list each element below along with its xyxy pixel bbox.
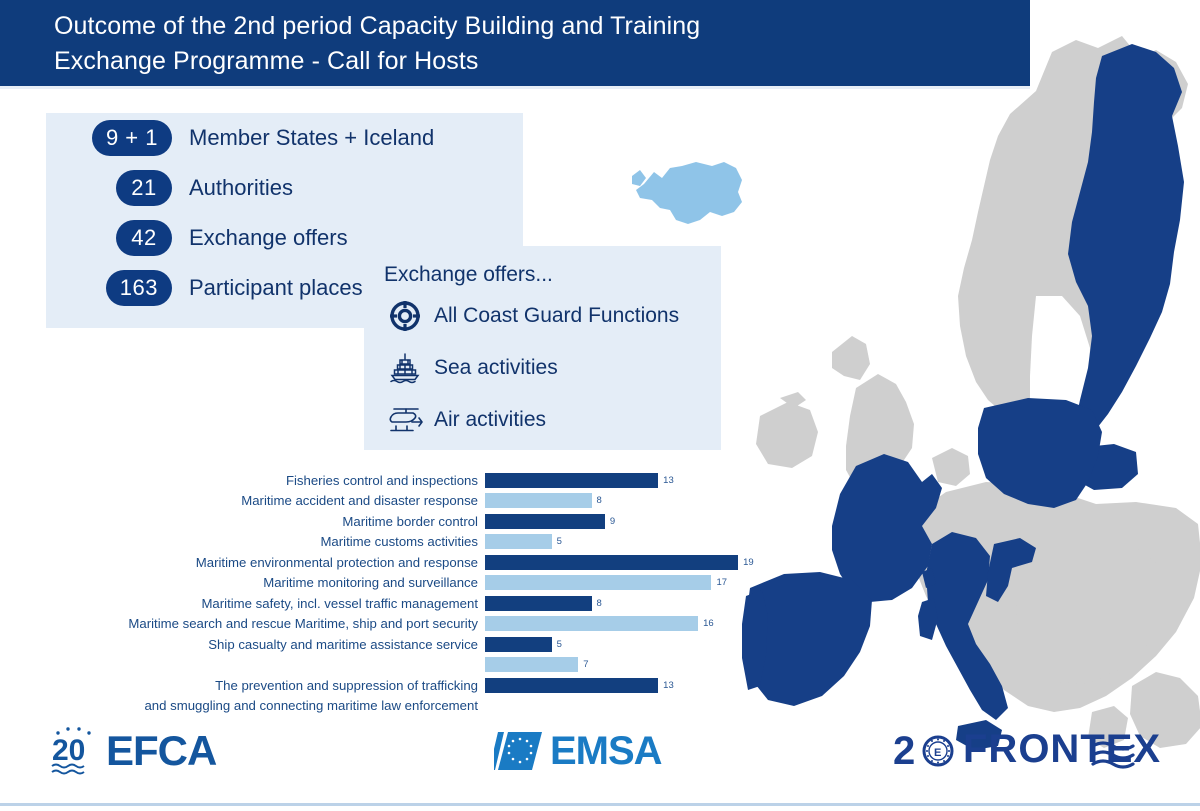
exchange-offers-bar-chart: Fisheries control and inspections 13 Mar… [0,470,790,710]
bar-value: 5 [557,536,562,547]
offer-label: Air activities [434,408,546,432]
stat-label: Authorities [189,175,293,201]
chart-row: 7 [0,655,790,676]
svg-text:E: E [934,747,941,759]
bar-category-label: Ship casualty and maritime assistance se… [0,637,485,652]
stat-label: Participant places [189,275,363,301]
offer-label: All Coast Guard Functions [434,304,679,328]
bar-value: 8 [597,598,602,609]
bar-value: 8 [597,495,602,506]
bar [485,534,552,549]
chart-row: The prevention and suppression of traffi… [0,675,790,696]
bar-category-label: Maritime customs activities [0,534,485,549]
bar-track: 9 [485,511,790,532]
bar-value: 16 [703,618,714,629]
emsa-logo: EMSA [494,728,662,774]
frontex-logo: 2 E FRONTEX [893,724,1161,774]
bar-value: 5 [557,639,562,650]
helicopter-icon [382,401,428,439]
bar [485,596,592,611]
chart-row: Ship casualty and maritime assistance se… [0,634,790,655]
stat-row: 21 Authorities [66,163,523,213]
eu-flag-icon [494,728,546,774]
bar [485,637,552,652]
chart-row: Maritime monitoring and surveillance 17 [0,573,790,594]
bar-track: 19 [485,552,790,573]
offer-row-coast-guard: All Coast Guard Functions [382,292,721,339]
bar-track: 7 [485,655,790,676]
bar-category-label: Fisheries control and inspections [0,473,485,488]
efca-mark-icon: 20 [46,724,104,778]
chart-row: Maritime accident and disaster response … [0,491,790,512]
bar-value: 17 [716,577,727,588]
bar-track: 13 [485,675,790,696]
title-line-2: Exchange Programme - Call for Hosts [54,44,1030,79]
chart-row: Maritime environmental protection and re… [0,552,790,573]
map-land-shapes [742,36,1200,750]
bar-track: 5 [485,532,790,553]
bar-category-label: Maritime environmental protection and re… [0,555,485,570]
efca-wordmark: EFCA [106,727,216,775]
bar [485,616,698,631]
bar-value: 7 [583,659,588,670]
bar-category-label-continuation: and smuggling and connecting maritime la… [0,698,485,713]
stat-value-badge: 9 + 1 [92,120,172,156]
offer-row-sea: Sea activities [382,344,721,391]
bar-track: 8 [485,593,790,614]
lifebuoy-icon [382,297,428,335]
chart-row: Maritime search and rescue Maritime, shi… [0,614,790,635]
bar-category-label: Maritime monitoring and surveillance [0,575,485,590]
bar-category-label: Maritime accident and disaster response [0,493,485,508]
stat-row: 9 + 1 Member States + Iceland [66,113,523,163]
frontex-wave-icon [1089,738,1159,772]
bar [485,678,658,693]
bar-value: 9 [610,516,615,527]
efca-logo: 20 EFCA [46,724,216,778]
offer-row-air: Air activities [382,396,721,443]
offer-label: Sea activities [434,356,558,380]
stat-value-badge: 21 [116,170,172,206]
exchange-offers-panel: Exchange offers... All Coast Guard Funct… [364,246,721,450]
bar [485,657,578,672]
bar-track: 13 [485,470,790,491]
stat-label: Member States + Iceland [189,125,434,151]
infographic-page: Outcome of the 2nd period Capacity Build… [0,0,1200,806]
logo-bar: 20 EFCA EMSA [0,722,1200,794]
stat-value-badge: 42 [116,220,172,256]
header-banner: Outcome of the 2nd period Capacity Build… [0,0,1030,86]
bar [485,555,738,570]
bar-value: 19 [743,557,754,568]
emsa-wordmark: EMSA [550,729,662,774]
page-title: Outcome of the 2nd period Capacity Build… [0,0,1030,79]
bar [485,473,658,488]
bar-track: 8 [485,491,790,512]
bar-category-label: Maritime safety, incl. vessel traffic ma… [0,596,485,611]
ship-icon [382,349,428,387]
bar [485,514,605,529]
bar-value: 13 [663,475,674,486]
bar-category-label: Maritime search and rescue Maritime, shi… [0,616,485,631]
chart-row: Fisheries control and inspections 13 [0,470,790,491]
chart-row: Maritime customs activities 5 [0,532,790,553]
frontex-mark-icon: 2 E [893,724,955,774]
stat-label: Exchange offers [189,225,348,251]
bar-track: 5 [485,634,790,655]
bar-category-label: Maritime border control [0,514,485,529]
bar [485,575,711,590]
bar [485,493,592,508]
chart-row-continuation: and smuggling and connecting maritime la… [0,696,790,717]
bar-value: 13 [663,680,674,691]
title-line-1: Outcome of the 2nd period Capacity Build… [54,12,700,40]
chart-row: Maritime border control 9 [0,511,790,532]
chart-row: Maritime safety, incl. vessel traffic ma… [0,593,790,614]
region-sardinia [918,598,938,640]
svg-text:20: 20 [52,734,85,767]
bar-category-label: The prevention and suppression of traffi… [0,678,485,693]
header-divider [0,86,1030,89]
country-iceland [626,158,748,230]
stat-value-badge: 163 [106,270,172,306]
bar-track: 17 [485,573,790,594]
bar-track: 16 [485,614,790,635]
offers-title: Exchange offers... [364,246,721,287]
svg-text:2: 2 [893,729,915,773]
